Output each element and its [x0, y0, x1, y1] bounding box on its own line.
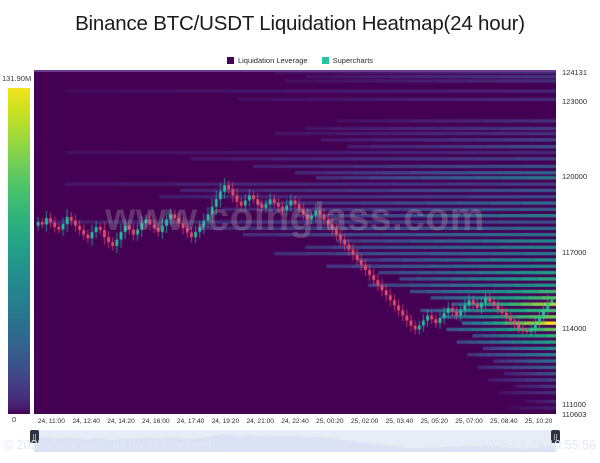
heatmap-plot-area[interactable]: [34, 72, 556, 414]
time-axis-tick: 24, 14:20: [107, 418, 135, 425]
time-axis-tick: 25, 07:00: [455, 418, 483, 425]
price-axis-tick: 117000: [562, 248, 586, 257]
legend-label: Liquidation Leverage: [238, 56, 308, 65]
price-axis-tick: 124131: [562, 68, 587, 77]
time-axis-tick: 24, 17:40: [177, 418, 205, 425]
price-axis-tick: 110603: [562, 410, 586, 419]
square-swatch-icon: [227, 57, 234, 64]
page-title: Binance BTC/USDT Liquidation Heatmap(24 …: [0, 12, 600, 36]
time-axis-tick: 24, 11:00: [38, 418, 65, 425]
square-swatch-icon: [322, 57, 329, 64]
price-axis-tick: 123000: [562, 97, 587, 106]
time-axis-tick: 25, 03:40: [386, 418, 414, 425]
time-axis-tick: 24, 16:00: [142, 418, 170, 425]
colorbar: [8, 88, 30, 414]
time-axis-tick: 24, 12:40: [72, 418, 100, 425]
colorbar-gradient: [8, 88, 30, 414]
price-axis-tick: 111000: [562, 400, 586, 409]
colorbar-min-label: 0: [12, 415, 16, 424]
time-axis-tick: 24, 21:00: [246, 418, 274, 425]
time-axis-tick: 24, 22:40: [281, 418, 309, 425]
legend-item-liquidation-leverage[interactable]: Liquidation Leverage: [227, 56, 308, 65]
time-axis-tick: 25, 02:00: [351, 418, 379, 425]
heatmap-canvas[interactable]: [34, 72, 556, 414]
liquidation-heatmap-page: Binance BTC/USDT Liquidation Heatmap(24 …: [0, 0, 600, 463]
colorbar-max-label: 131.90M: [2, 74, 31, 83]
time-axis-tick: 25, 08:40: [490, 418, 518, 425]
chart-legend: Liquidation Leverage Supercharts: [0, 56, 600, 65]
legend-label: Supercharts: [333, 56, 373, 65]
time-axis-tick: 24, 19:20: [212, 418, 240, 425]
price-axis-tick: 114000: [562, 324, 586, 333]
price-axis-tick: 120000: [562, 172, 587, 181]
legend-item-supercharts[interactable]: Supercharts: [322, 56, 373, 65]
copyright-text: © 2025 CoinGlass, all rights reserved: [4, 438, 211, 452]
time-axis-tick: 25, 00:20: [316, 418, 344, 425]
time-axis-tick: 25, 05:20: [420, 418, 448, 425]
time-axis-tick: 25, 10:20: [525, 418, 553, 425]
snapshot-timestamp: 2025-07-25 10:55:56: [480, 438, 596, 452]
